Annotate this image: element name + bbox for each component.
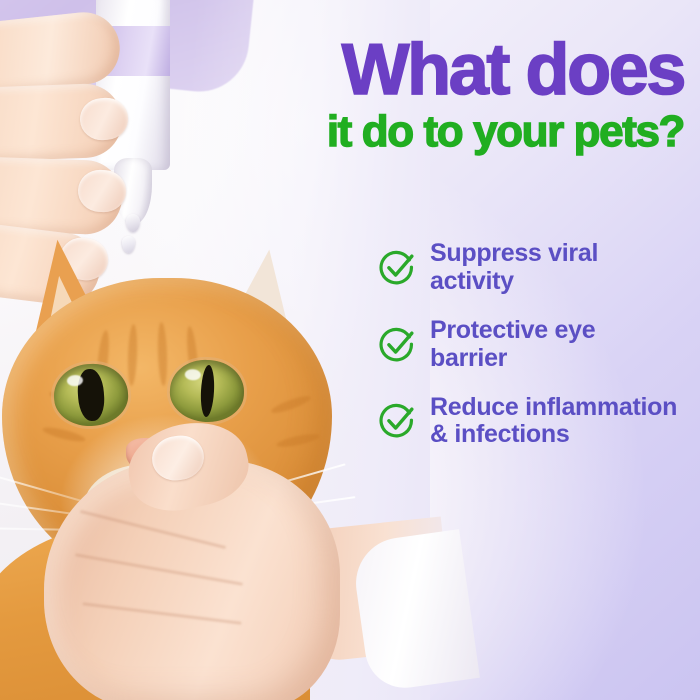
list-item-label: Protective eye barrier	[430, 317, 678, 372]
hand-holding-cat-chin	[30, 432, 410, 700]
list-item-label: Reduce inflammation & infections	[430, 394, 678, 448]
cat-pupil	[200, 365, 216, 418]
green-check-circle-icon	[378, 249, 416, 287]
list-item: Suppress viral activity	[378, 240, 678, 295]
fur-stripe	[270, 393, 313, 416]
sleeve-cuff	[350, 529, 480, 693]
green-check-circle-icon	[378, 402, 416, 440]
headline-primary: What does	[232, 40, 684, 100]
list-item: Protective eye barrier	[378, 317, 678, 372]
poster-canvas: What does it do to your pets? Suppress v…	[0, 0, 700, 700]
eye-glint	[185, 369, 202, 381]
fur-stripe	[157, 322, 168, 386]
fur-stripe	[127, 324, 138, 386]
headline-block: What does it do to your pets?	[232, 40, 684, 152]
list-item-label: Suppress viral activity	[430, 240, 678, 295]
green-check-circle-icon	[378, 326, 416, 364]
list-item: Reduce inflammation & infections	[378, 394, 678, 448]
headline-secondary: it do to your pets?	[232, 112, 684, 152]
fingernail	[77, 169, 126, 213]
benefits-list: Suppress viral activity Protective eye b…	[378, 240, 678, 448]
